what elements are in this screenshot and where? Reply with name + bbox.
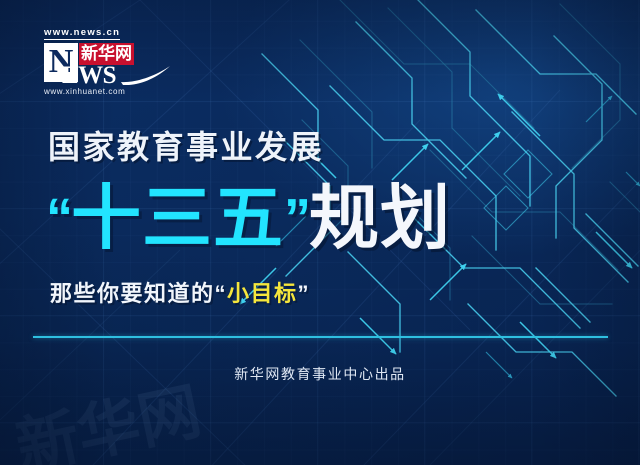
watermark-text: 新华网 (11, 377, 207, 465)
section-divider (33, 336, 608, 338)
subtitle: 那些你要知道的“小目标” (50, 280, 310, 308)
logo-url-top: www.news.cn (44, 27, 120, 40)
logo-mark: N 新华网 EWS (44, 43, 168, 83)
xinhua-logo[interactable]: www.news.cn N 新华网 EWS www.xinhuanet.com (44, 22, 168, 97)
headline-line1: 国家教育事业发展 (48, 128, 324, 166)
subtitle-prefix: 那些你要知道的 (50, 281, 215, 306)
poster-root: 新华网 www.news.cn N 新华网 EWS www.xinhuanet.… (0, 0, 640, 465)
subtitle-quote-open: “ (215, 281, 228, 306)
headline-quote-open: “ (46, 188, 71, 248)
headline-plan-number: 十三五 (71, 179, 284, 257)
credit-line: 新华网教育事业中心出品 (0, 364, 640, 384)
headline-main: “十三五”规划 (46, 178, 451, 278)
subtitle-quote-close: ” (298, 281, 311, 306)
subtitle-goal: 小目标 (227, 281, 298, 306)
headline-plan-word: 规划 (309, 179, 451, 257)
swoosh-icon (120, 65, 172, 85)
headline-quote-close: ” (284, 188, 309, 248)
logo-letters-ews: EWS (62, 63, 116, 88)
